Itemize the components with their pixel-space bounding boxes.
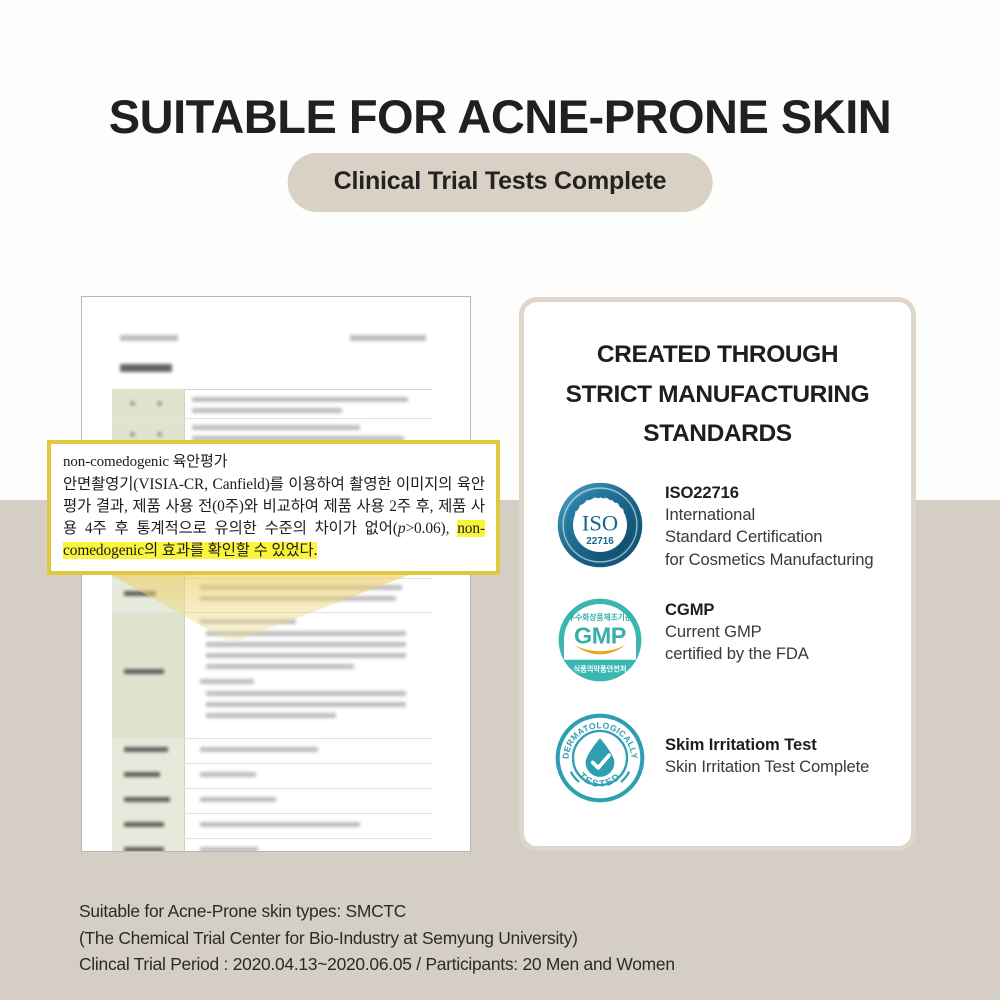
cert-card-title: CREATED THROUGH STRICT MANUFACTURING STA… xyxy=(524,335,911,454)
callout-body: 안면촬영기(VISIA-CR, Canfield)를 이용하여 촬영한 이미지의… xyxy=(63,474,485,563)
footer-note: Suitable for Acne-Prone skin types: SMCT… xyxy=(79,898,675,978)
cert-item-iso22716-name: ISO22716 xyxy=(665,483,874,503)
manufacturing-standards-card: CREATED THROUGH STRICT MANUFACTURING STA… xyxy=(519,297,916,851)
cert-item-iso22716-line-1: International xyxy=(665,504,874,526)
footer-line-2: (The Chemical Trial Center for Bio-Indus… xyxy=(79,925,675,952)
dermatologically-tested-badge-icon: DERMATOLOGICALLY TESTED xyxy=(555,713,645,803)
cert-item-cgmp: 우수화장품제조기준 GMP 식품의약품안전처 CGMP Current GMP … xyxy=(555,595,911,685)
iso-22716-badge-icon: CERTIFIED ISO 22716 xyxy=(555,480,645,570)
cert-title-line-3: STANDARDS xyxy=(524,414,911,454)
callout-box: non-comedogenic 육안평가 안면촬영기(VISIA-CR, Can… xyxy=(47,440,500,575)
cert-item-skin-irritation-name: Skim Irritatiom Test xyxy=(665,735,869,755)
cert-item-iso22716-line-3: for Cosmetics Manufacturing xyxy=(665,549,874,571)
callout-body-mid: >0.06), xyxy=(405,520,457,537)
cert-item-cgmp-name: CGMP xyxy=(665,600,809,620)
cert-item-skin-irritation-text: Skim Irritatiom Test Skin Irritation Tes… xyxy=(665,713,869,778)
cert-item-cgmp-line-1: Current GMP xyxy=(665,621,809,643)
callout-line-1: non-comedogenic 육안평가 xyxy=(63,452,485,474)
cert-item-cgmp-line-2: certified by the FDA xyxy=(665,643,809,665)
cert-item-iso22716: CERTIFIED ISO 22716 ISO22716 Internation… xyxy=(555,480,911,571)
page-title: SUITABLE FOR ACNE-PRONE SKIN xyxy=(0,93,1000,140)
cgmp-badge-sub-text: 식품의약품안전처 xyxy=(574,665,627,674)
cert-item-iso22716-text: ISO22716 International Standard Certific… xyxy=(665,480,874,571)
cert-item-skin-irritation: DERMATOLOGICALLY TESTED Skim Irritatiom … xyxy=(555,713,911,803)
cert-title-line-1: CREATED THROUGH xyxy=(524,335,911,375)
clinical-trial-pill: Clinical Trial Tests Complete xyxy=(288,153,713,212)
footer-line-3: Clincal Trial Period : 2020.04.13~2020.0… xyxy=(79,951,675,978)
cgmp-badge-icon: 우수화장품제조기준 GMP 식품의약품안전처 xyxy=(555,595,645,685)
footer-line-1: Suitable for Acne-Prone skin types: SMCT… xyxy=(79,898,675,925)
cert-title-line-2: STRICT MANUFACTURING xyxy=(524,375,911,415)
cert-item-skin-irritation-line-1: Skin Irritation Test Complete xyxy=(665,756,869,778)
iso-badge-main: ISO xyxy=(582,510,618,535)
cgmp-badge-top-text: 우수화장품제조기준 xyxy=(568,612,632,622)
cgmp-badge-main-text: GMP xyxy=(574,623,626,649)
page-root: SUITABLE FOR ACNE-PRONE SKIN Clinical Tr… xyxy=(0,0,1000,1000)
cert-item-iso22716-line-2: Standard Certification xyxy=(665,526,874,548)
cert-item-cgmp-text: CGMP Current GMP certified by the FDA xyxy=(665,595,809,666)
cert-list: CERTIFIED ISO 22716 ISO22716 Internation… xyxy=(524,480,911,803)
clinical-trial-pill-label: Clinical Trial Tests Complete xyxy=(334,167,667,195)
iso-badge-number: 22716 xyxy=(586,536,614,547)
